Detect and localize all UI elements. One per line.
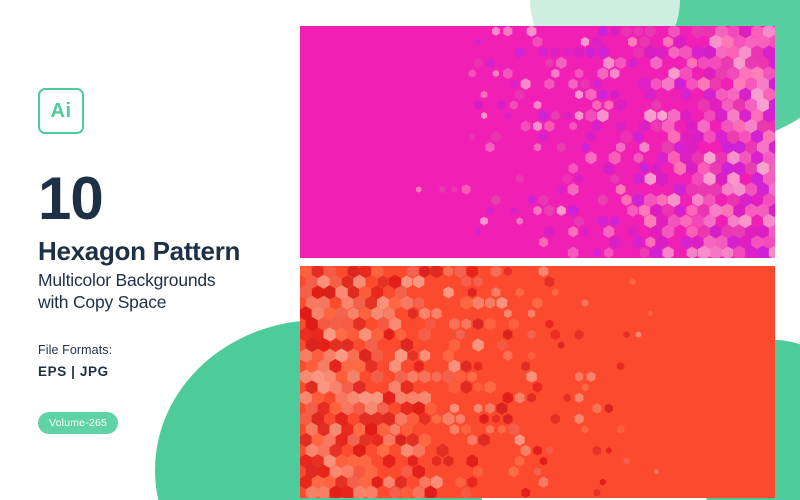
file-formats-label: File Formats: <box>38 343 288 357</box>
preview-thumbnail-magenta[interactable] <box>300 26 775 258</box>
preview-thumbnail-orange[interactable] <box>300 266 775 498</box>
subtitle-line-2: with Copy Space <box>38 292 288 313</box>
adobe-illustrator-icon: Ai <box>38 88 84 134</box>
poster-canvas: Ai 10 Hexagon Pattern Multicolor Backgro… <box>0 0 800 500</box>
subtitle-line-1: Multicolor Backgrounds <box>38 270 288 291</box>
page-title: Hexagon Pattern <box>38 238 288 265</box>
ai-badge-label: Ai <box>51 101 72 121</box>
volume-badge: Volume-265 <box>38 412 118 434</box>
file-formats-value: EPS | JPG <box>38 364 288 379</box>
item-count: 10 <box>38 172 288 226</box>
info-panel: Ai 10 Hexagon Pattern Multicolor Backgro… <box>38 88 288 434</box>
subtitle: Multicolor Backgrounds with Copy Space <box>38 270 288 313</box>
